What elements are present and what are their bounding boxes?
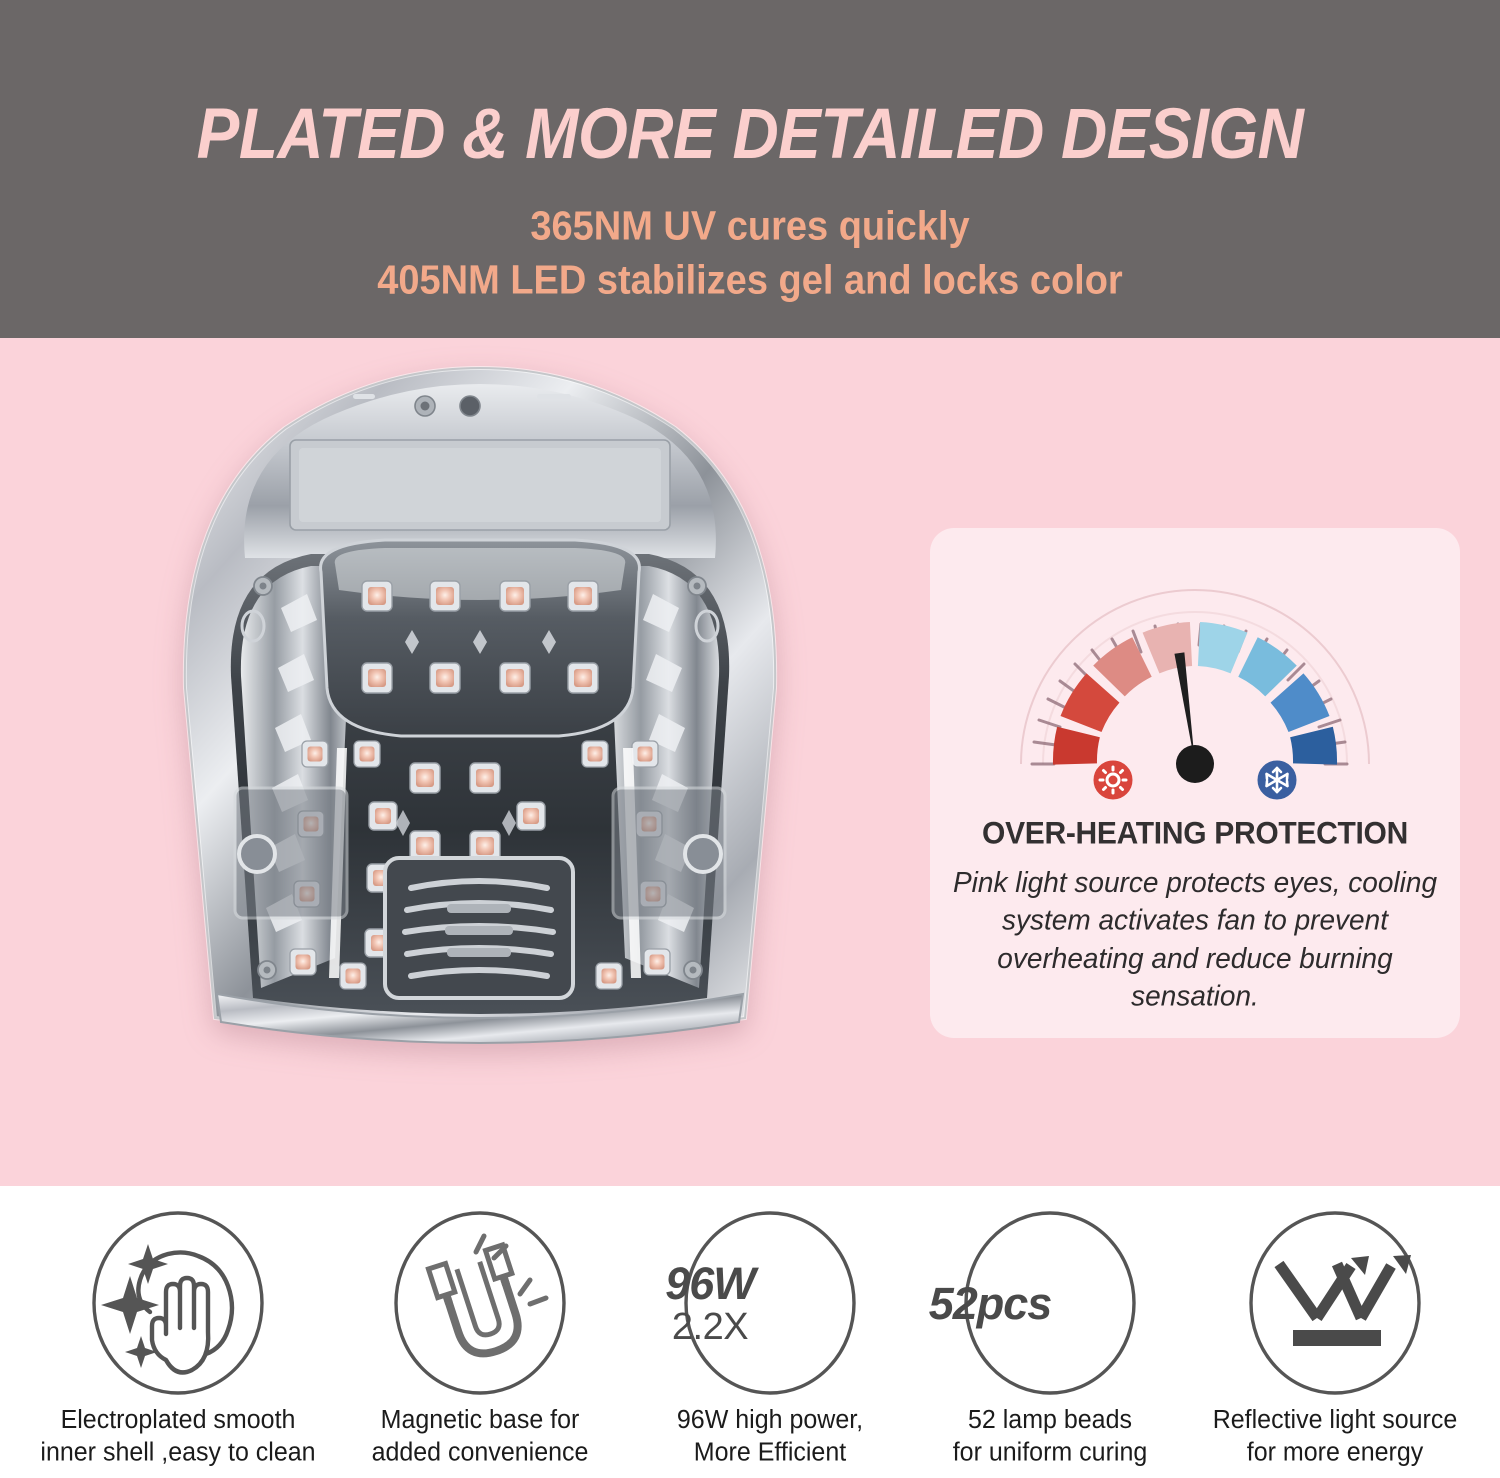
feature-caption: Magnetic base for added convenience [330, 1404, 630, 1469]
reflective-light-icon [1245, 1208, 1425, 1398]
hand-wipe-sparkle-icon [88, 1208, 268, 1398]
magnet-icon [390, 1208, 570, 1398]
feature-caption: 96W high power, More Efficient [620, 1404, 920, 1469]
header-subtitle-line-2: 405NM LED stabilizes gel and locks color [0, 258, 1500, 304]
product-showcase-section: OVER-HEATING PROTECTION Pink light sourc… [0, 338, 1500, 1186]
feature-item-reflective-light: Reflective light source for more energy [1185, 1208, 1485, 1478]
card-title: OVER-HEATING PROTECTION [930, 816, 1460, 852]
feature-caption-line-2: for more energy [1185, 1437, 1485, 1470]
card-body-text: Pink light source protects eyes, cooling… [944, 864, 1446, 1015]
temperature-gauge-icon [985, 542, 1405, 800]
lamp-beads-badge-text: 52pcs [900, 1208, 1080, 1398]
temperature-gauge-container [930, 542, 1460, 804]
feature-item-lamp-beads: 52pcs 52 lamp beads for uniform curing [900, 1208, 1200, 1478]
feature-highlights-strip: Electroplated smooth inner shell ,easy t… [0, 1186, 1500, 1478]
feature-caption-line-1: Reflective light source [1185, 1404, 1485, 1437]
power-multiplier: 2.2X [672, 1308, 748, 1346]
snowflake-icon [1256, 759, 1298, 800]
feature-caption-line-1: 96W high power, [620, 1404, 920, 1437]
uv-led-nail-lamp-image [85, 358, 875, 1058]
page-title: PLATED & MORE DETAILED DESIGN [0, 92, 1500, 175]
sun-icon [1092, 759, 1134, 800]
feature-caption-line-2: for uniform curing [900, 1437, 1200, 1470]
feature-caption-line-1: Magnetic base for [330, 1404, 630, 1437]
feature-caption-line-1: 52 lamp beads [900, 1404, 1200, 1437]
feature-caption: Reflective light source for more energy [1185, 1404, 1485, 1469]
feature-caption-line-2: inner shell ,easy to clean [28, 1437, 328, 1470]
product-infographic: PLATED & MORE DETAILED DESIGN 365NM UV c… [0, 0, 1500, 1478]
feature-item-power: 96W 2.2X 96W high power, More Efficient [620, 1208, 920, 1478]
feature-caption-line-1: Electroplated smooth [28, 1404, 328, 1437]
lamp-beads-value: 52pcs [929, 1281, 1052, 1326]
feature-item-magnetic-base: Magnetic base for added convenience [330, 1208, 630, 1478]
header-banner: PLATED & MORE DETAILED DESIGN 365NM UV c… [0, 0, 1500, 338]
feature-caption: Electroplated smooth inner shell ,easy t… [28, 1404, 328, 1469]
feature-caption-line-2: More Efficient [620, 1437, 920, 1470]
over-heating-protection-card: OVER-HEATING PROTECTION Pink light sourc… [930, 528, 1460, 1038]
product-image-container [85, 358, 875, 1058]
header-subtitle-line-1: 365NM UV cures quickly [0, 204, 1500, 250]
card-body-line-1: Pink light source protects eyes, [953, 866, 1341, 898]
feature-caption: 52 lamp beads for uniform curing [900, 1404, 1200, 1469]
feature-item-electroplated: Electroplated smooth inner shell ,easy t… [28, 1208, 328, 1478]
power-value: 96W [665, 1261, 755, 1306]
power-badge-text: 96W 2.2X [620, 1208, 800, 1398]
feature-caption-line-2: added convenience [330, 1437, 630, 1470]
